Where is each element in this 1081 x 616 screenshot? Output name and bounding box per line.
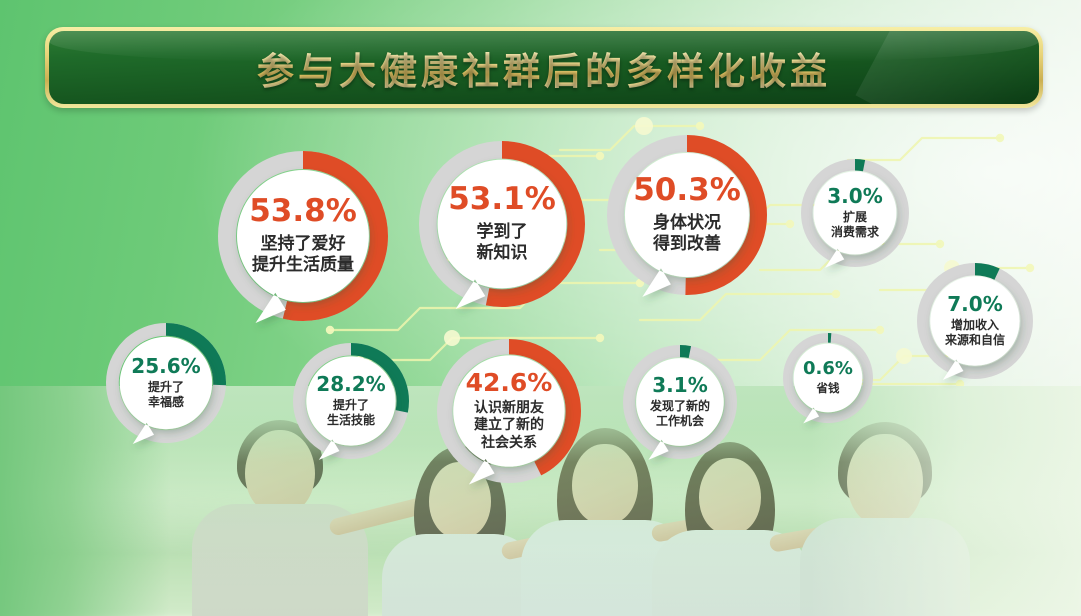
title-banner: 参与大健康社群后的多样化收益	[45, 27, 1043, 108]
donut-ring	[622, 344, 764, 486]
bubble-life-skills[interactable]: 28.2%提升了生活技能	[292, 342, 410, 460]
bubble-income-confidence[interactable]: 7.0%增加收入来源和自信	[916, 262, 1034, 380]
bubble-job-opportunity[interactable]: 3.1%发现了新的工作机会	[622, 344, 738, 460]
bubble-physical-improve[interactable]: 50.3%身体状况得到改善	[606, 134, 768, 296]
donut-ring	[782, 332, 900, 450]
donut-ring	[292, 342, 436, 486]
bubble-new-knowledge[interactable]: 53.1%学到了新知识	[418, 140, 586, 308]
infographic-stage: 参与大健康社群后的多样化收益 25.6%提升了幸福感 53.8%坚持了爱好提升生…	[0, 0, 1081, 616]
title-banner-inner: 参与大健康社群后的多样化收益	[49, 31, 1039, 104]
donut-ring	[418, 140, 612, 334]
page-title: 参与大健康社群后的多样化收益	[257, 41, 831, 95]
bubble-new-friends[interactable]: 42.6%认识新朋友建立了新的社会关系	[436, 338, 582, 484]
donut-ring	[217, 150, 415, 348]
donut-ring	[916, 262, 1060, 406]
donut-ring	[606, 134, 794, 322]
donut-ring	[436, 338, 608, 510]
bubble-expand-consumption[interactable]: 3.0%扩展消费需求	[800, 158, 910, 268]
bubble-happiness[interactable]: 25.6%提升了幸福感	[105, 322, 227, 444]
bubble-save-money[interactable]: 0.6%省钱	[782, 332, 874, 424]
bubble-hobby-quality[interactable]: 53.8%坚持了爱好提升生活质量	[217, 150, 389, 322]
